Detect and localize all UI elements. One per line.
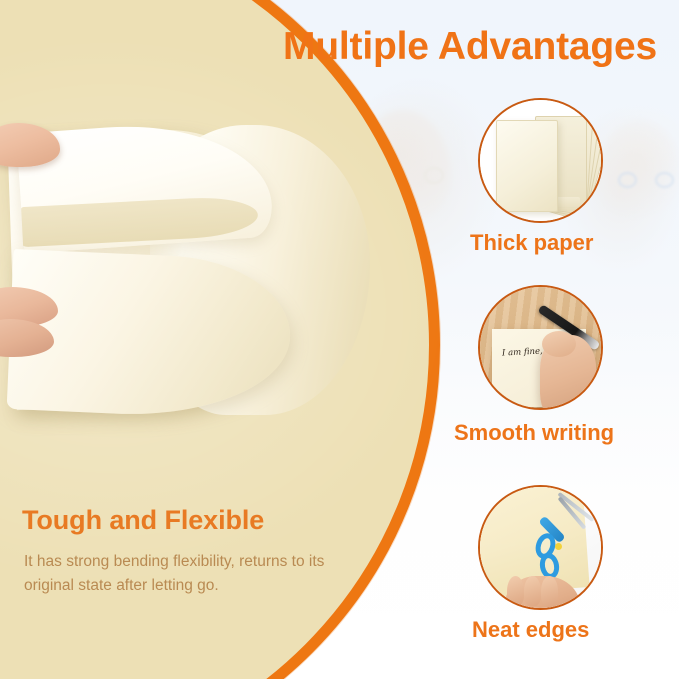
page-title: Multiple Advantages	[283, 25, 657, 69]
feature-label-thick-paper: Thick paper	[470, 230, 593, 256]
left-feature-heading: Tough and Flexible	[22, 505, 264, 536]
left-feature-body: It has strong bending flexibility, retur…	[24, 550, 344, 597]
feature-label-neat-edges: Neat edges	[472, 617, 589, 643]
feature-badge-neat-edges	[478, 485, 603, 610]
bent-paper-photo	[0, 105, 360, 445]
feature-badge-thick-paper	[478, 98, 603, 223]
feature-label-smooth-writing: Smooth writing	[454, 420, 614, 446]
poster: Multiple Advantages Tough and Flexible I…	[0, 0, 679, 679]
paper-stack-icon	[480, 100, 601, 221]
thumb	[0, 123, 60, 167]
feature-badge-smooth-writing: I am fine, and	[478, 285, 603, 410]
scissors-cutting-icon	[480, 487, 601, 608]
writing-hand-icon: I am fine, and	[480, 287, 601, 408]
